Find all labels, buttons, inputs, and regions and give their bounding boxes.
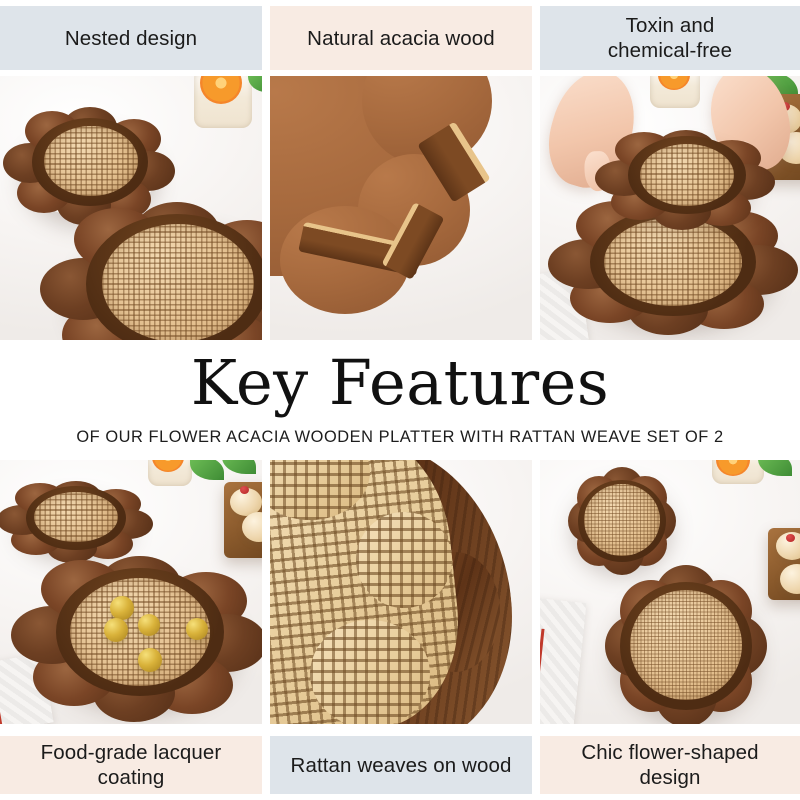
label-natural-acacia-wood: Natural acacia wood <box>270 6 532 70</box>
tray-large <box>52 196 262 340</box>
tray-small-bl-rattan <box>34 492 118 542</box>
label-nested-design: Nested design <box>0 6 262 70</box>
label-natural-acacia-wood-text: Natural acacia wood <box>307 26 495 51</box>
chocolate-5 <box>138 648 162 672</box>
tray-small-lifted-rattan <box>640 144 734 206</box>
tray-large-br <box>598 562 774 724</box>
photo-chic-flower-shaped <box>540 460 800 724</box>
macro-rattan-lobe-low <box>310 620 430 724</box>
photo-nested-design <box>0 76 262 340</box>
label-food-grade-lacquer-text: Food-grade lacquer coating <box>6 740 256 790</box>
photo-natural-acacia-wood <box>270 76 532 340</box>
photo-food-grade-lacquer <box>0 460 262 724</box>
tray-large-bl <box>26 552 254 722</box>
label-toxin-chemical-free-text: Toxin and chemical-free <box>583 13 758 63</box>
prop-berry-bl <box>240 486 249 494</box>
heading-block: Key Features <box>0 352 800 414</box>
chocolate-2 <box>104 618 128 642</box>
chocolate-1 <box>110 596 134 620</box>
label-nested-design-text: Nested design <box>65 26 197 51</box>
tray-large-rattan <box>102 224 254 340</box>
tray-large-br-rattan <box>630 590 742 700</box>
macro-rattan-lobe-mid <box>356 512 452 608</box>
tray-small-rattan <box>44 126 138 196</box>
photo-toxin-chemical-free <box>540 76 800 340</box>
feature-collage: Nested design Natural acacia wood Toxin … <box>0 0 800 800</box>
label-toxin-chemical-free: Toxin and chemical-free <box>540 6 800 70</box>
tray-large-nesting-rattan <box>604 218 742 306</box>
photo-rattan-weaves <box>270 460 532 724</box>
chocolate-4 <box>186 618 208 640</box>
tray-small-lifted <box>606 126 766 230</box>
subtitle-block: OF OUR FLOWER ACACIA WOODEN PLATTER WITH… <box>0 428 800 447</box>
tray-small-br-rattan <box>584 484 660 556</box>
tray-small-bl <box>6 478 146 562</box>
page-title: Key Features <box>0 352 800 414</box>
label-chic-flower-shaped-text: Chic flower-shaped design <box>570 740 770 790</box>
prop-berry-br <box>786 534 795 542</box>
label-rattan-weaves: Rattan weaves on wood <box>270 736 532 794</box>
tray-small-br <box>562 466 682 576</box>
chocolate-3 <box>138 614 160 636</box>
label-food-grade-lacquer: Food-grade lacquer coating <box>0 736 262 794</box>
page-subtitle: OF OUR FLOWER ACACIA WOODEN PLATTER WITH… <box>0 428 800 447</box>
label-chic-flower-shaped: Chic flower-shaped design <box>540 736 800 794</box>
label-rattan-weaves-text: Rattan weaves on wood <box>291 753 512 778</box>
